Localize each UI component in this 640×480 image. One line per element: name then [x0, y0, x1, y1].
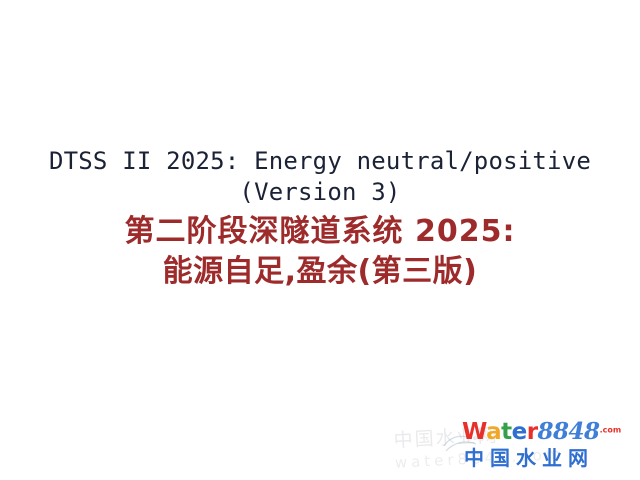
brand-wordmark: Water8848.com	[462, 420, 621, 444]
watermark-logo: 中国水业网 water8848.com Water8848.com 中国水业网	[442, 416, 622, 472]
slide-canvas: DTSS II 2025: Energy neutral/positive (V…	[0, 0, 640, 480]
brand-chinese-name: 中国水业网	[464, 442, 594, 471]
title-english-line-1: DTSS II 2025: Energy neutral/positive	[0, 146, 640, 177]
title-chinese-line-1: 第二阶段深隧道系统 2025:	[0, 212, 640, 252]
title-english-line-2: (Version 3)	[0, 177, 640, 208]
title-block: DTSS II 2025: Energy neutral/positive (V…	[0, 146, 640, 292]
title-chinese-line-2: 能源自足,盈余(第三版)	[0, 252, 640, 292]
brand-tld: .com	[600, 426, 622, 435]
brand-number: 8848	[538, 418, 600, 445]
